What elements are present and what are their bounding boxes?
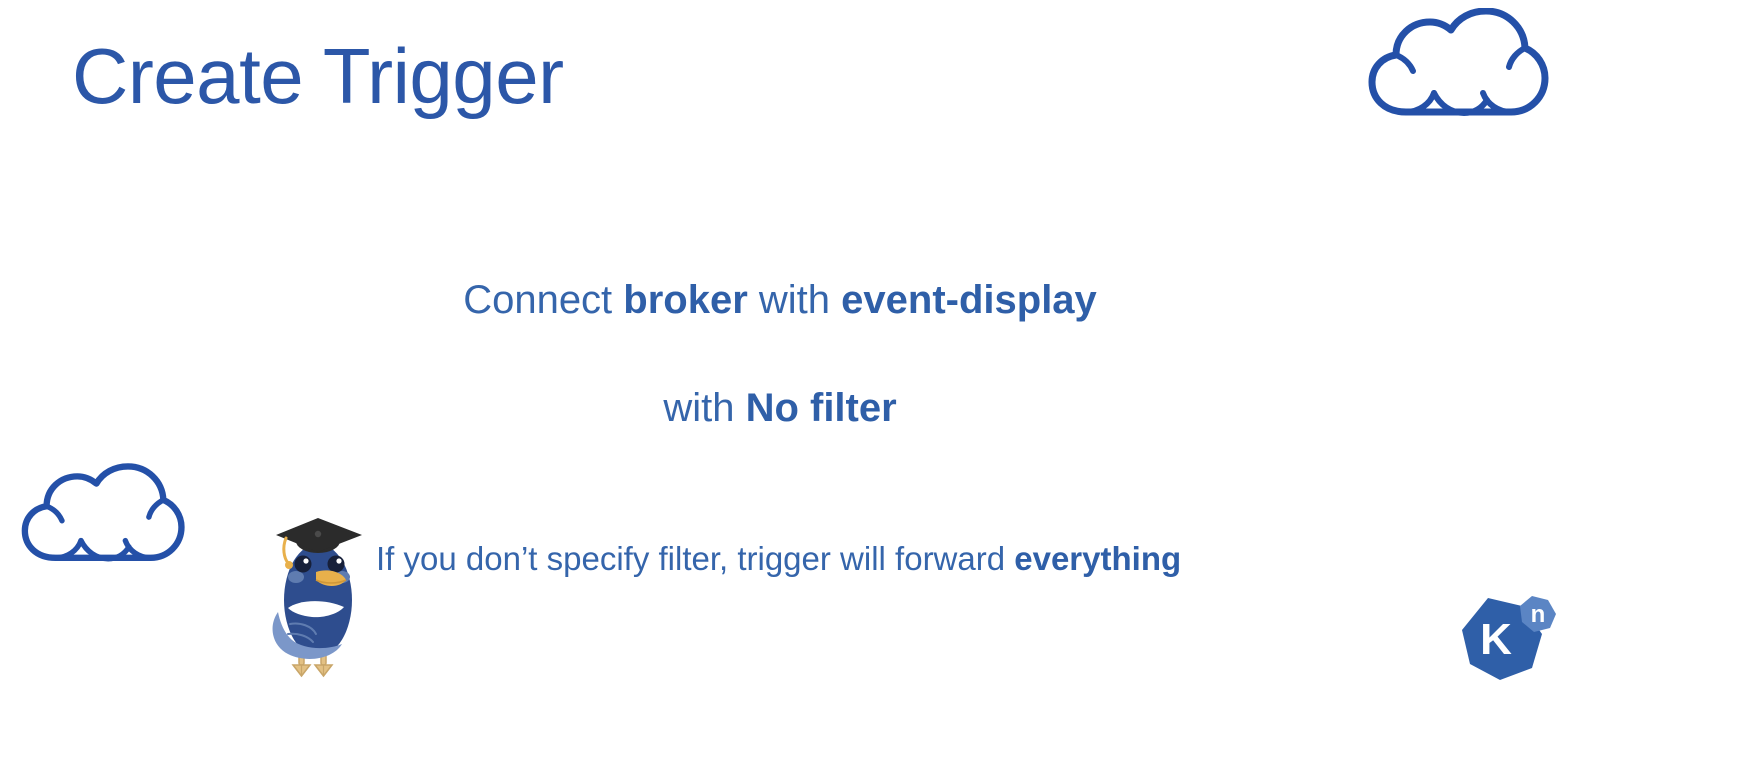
cloud-outline-icon bbox=[1360, 8, 1550, 133]
footnote-rich-text: If you don’t specify filter, trigger wil… bbox=[376, 540, 1181, 577]
slide-canvas: Create Trigger Connect broker with event… bbox=[0, 0, 1750, 766]
knative-letter-k: K bbox=[1480, 615, 1512, 664]
body-line-2-text: with No filter bbox=[663, 386, 896, 430]
plain-text: If you don’t specify filter, trigger wil… bbox=[376, 540, 1014, 577]
emphasis-text: No filter bbox=[746, 386, 897, 430]
cloud-outline-icon bbox=[14, 462, 186, 579]
body-line-1: Connect broker with event-display bbox=[0, 278, 1560, 323]
emphasis-text: everything bbox=[1014, 540, 1181, 577]
knative-logo: K n bbox=[1444, 580, 1564, 705]
footnote-text: If you don’t specify filter, trigger wil… bbox=[376, 540, 1181, 578]
body-line-2: with No filter bbox=[0, 386, 1560, 431]
emphasis-text: broker bbox=[623, 278, 748, 322]
plain-text: Connect bbox=[463, 278, 623, 322]
emphasis-text: event-display bbox=[841, 278, 1097, 322]
knative-letter-n: n bbox=[1531, 601, 1546, 628]
plain-text: with bbox=[663, 386, 745, 430]
page-title: Create Trigger bbox=[72, 36, 564, 118]
plain-text: with bbox=[748, 278, 841, 322]
professor-bird-mascot-icon bbox=[266, 500, 370, 695]
body-line-1-text: Connect broker with event-display bbox=[463, 278, 1097, 322]
